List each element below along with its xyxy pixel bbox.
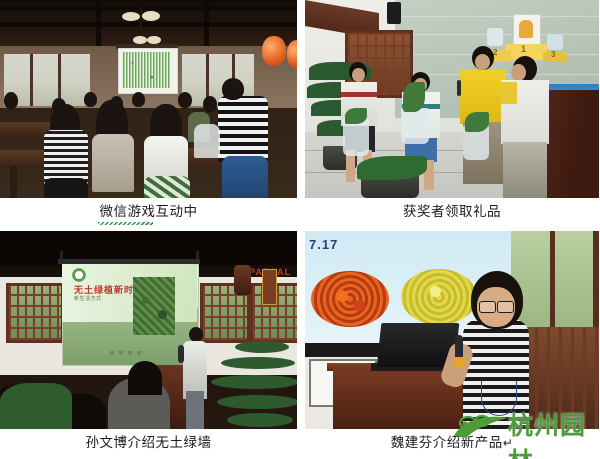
ceiling-beam <box>96 0 101 46</box>
microphone <box>178 345 184 363</box>
pine-branch <box>211 375 297 389</box>
brand-logo-icon <box>72 268 86 282</box>
shirt-shoulder <box>501 82 517 104</box>
person-trousers <box>503 142 547 198</box>
red-lantern <box>262 36 286 66</box>
person-head <box>178 92 192 108</box>
document-page: 2 1 3 <box>0 0 600 459</box>
pine-branch <box>235 341 289 353</box>
hanging-lamp <box>234 265 251 295</box>
person-top <box>92 134 134 192</box>
ceiling-beam <box>0 6 297 10</box>
chandelier-lamp <box>142 11 160 21</box>
gift-bag <box>401 108 429 144</box>
plant-leaf <box>465 112 489 132</box>
wall-plaque <box>262 269 277 305</box>
watermark-brand-text: 杭州园林 <box>508 406 600 459</box>
person-face <box>475 54 490 70</box>
figure-image-winners-gifts: 2 1 3 <box>305 0 599 198</box>
chandelier-lamp <box>147 36 161 44</box>
figure-caption-wechat-game: 微信游戏互动中 <box>0 202 297 224</box>
person-face <box>352 68 365 82</box>
figure-image-green-wall: 无土绿植新时代 新生活方式 PAFCAL <box>0 231 297 429</box>
qr-code-slide <box>123 52 171 88</box>
window-frame <box>550 231 555 331</box>
slide-plant-photo <box>133 277 175 335</box>
slide-flower-photo-yellow <box>401 269 477 325</box>
person-skirt <box>44 178 88 198</box>
slide-subtitle: 新生活方式 <box>74 295 102 302</box>
foreground-plant <box>0 383 72 429</box>
slide-rank-1: 1 <box>521 44 526 54</box>
figure-image-wechat-game <box>0 0 297 198</box>
pine-branch <box>227 413 293 427</box>
person-jeans <box>222 156 268 198</box>
lattice-window <box>6 283 64 343</box>
microphone-grip <box>453 357 465 367</box>
figure-caption-winners-gifts: 获奖者领取礼品 <box>305 202 599 224</box>
glasses-icon <box>479 301 496 313</box>
foreground-plant <box>357 156 427 180</box>
slide-flower-photo-orange <box>311 271 389 327</box>
table-leg <box>10 166 17 198</box>
slide-trophy <box>487 28 503 46</box>
slide-pagination-dots <box>110 351 146 355</box>
person-face <box>511 64 526 81</box>
chandelier-lamp <box>122 12 140 21</box>
figure-caption-green-wall: 孙文博介绍无土绿墙 <box>0 433 297 455</box>
wall-speaker <box>387 2 401 24</box>
microphone <box>457 80 461 96</box>
figure-image-new-product: 7.17 <box>305 231 599 429</box>
pine-branch <box>221 357 295 369</box>
window-mullion <box>30 54 33 106</box>
person-striped-shirt <box>218 96 268 162</box>
screen-line <box>393 16 599 17</box>
glasses-icon <box>497 301 514 313</box>
person-skirt <box>144 176 190 198</box>
red-lantern <box>287 40 297 68</box>
watermark: 杭州园林 <box>452 404 600 444</box>
person-head <box>222 78 244 100</box>
grammar-underline <box>98 222 153 225</box>
person-head <box>132 92 145 107</box>
slide-rank-3: 3 <box>551 50 555 59</box>
plant-leaf <box>345 108 367 124</box>
pine-branch <box>217 395 297 409</box>
shirt-stripe <box>341 92 377 97</box>
slide-date-label: 7.17 <box>309 237 338 252</box>
slide-avatar <box>519 20 533 38</box>
slide-trophy <box>547 34 563 50</box>
speaker-trousers <box>186 391 204 429</box>
ceiling-beam <box>204 0 209 46</box>
ceiling-beam <box>0 22 297 27</box>
foreground-pine <box>207 337 297 429</box>
audience-head <box>128 361 162 395</box>
plastic-bag <box>194 124 220 158</box>
speaker-head <box>189 327 203 342</box>
person-head <box>4 92 18 109</box>
person-head <box>203 96 217 112</box>
leaf-logo-icon <box>452 410 510 440</box>
chandelier-lamp <box>133 36 147 44</box>
plant-leaf <box>403 82 425 112</box>
person-head <box>84 92 97 107</box>
